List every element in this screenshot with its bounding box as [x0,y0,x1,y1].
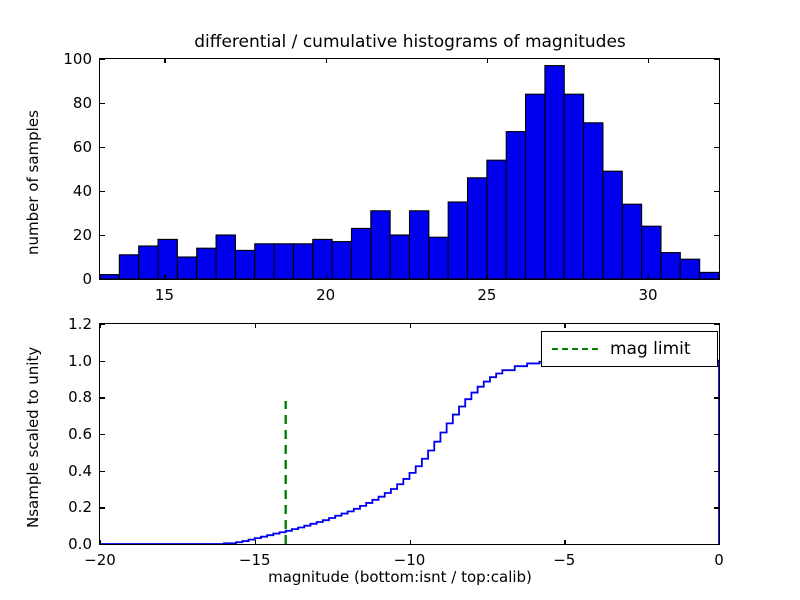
y-tick-mark [100,147,105,148]
x-tick-label: 25 [477,286,496,304]
y-tick-label: 60 [37,138,92,156]
cumulative-step-line [100,361,719,544]
x-tick-mark [487,275,488,280]
y-tick-mark [714,471,719,472]
differential-histogram-axes [99,58,720,280]
histogram-bar [274,244,293,279]
histogram-bar [506,132,525,279]
histogram-bar [235,250,254,279]
y-tick-label: 80 [37,94,92,112]
x-tick-mark [564,323,565,328]
y-tick-label: 40 [37,182,92,200]
bottom-axes-ylabel: Nsample scaled to unity [24,347,42,528]
x-tick-label: −20 [84,551,116,569]
histogram-bars [100,59,719,279]
histogram-bar [487,160,506,279]
top-axes-ylabel: number of samples [24,110,42,255]
histogram-bar [564,94,583,279]
histogram-bar [545,66,564,279]
histogram-bar [119,255,138,279]
x-tick-mark [719,540,720,545]
x-tick-mark [255,323,256,328]
histogram-bar [680,259,699,279]
histogram-bar [216,235,235,279]
histogram-bar [177,257,196,279]
x-tick-mark [487,58,488,63]
y-tick-mark [714,59,719,60]
y-tick-mark [714,544,719,545]
histogram-bar [390,235,409,279]
x-tick-mark [564,540,565,545]
legend[interactable]: mag limit [541,331,718,367]
y-tick-mark [100,324,105,325]
figure-title: differential / cumulative histograms of … [100,32,720,52]
histogram-bar [468,178,487,279]
y-tick-mark [100,191,105,192]
histogram-bar [371,211,390,279]
y-tick-mark [714,279,719,280]
y-tick-label: 0.4 [37,462,92,480]
histogram-bar [642,226,661,279]
x-tick-mark [164,275,165,280]
y-tick-mark [714,324,719,325]
x-tick-label: −5 [553,551,575,569]
y-tick-label: 0.8 [37,388,92,406]
histogram-bar [584,123,603,279]
histogram-bar [622,204,641,279]
y-tick-mark [100,507,105,508]
x-tick-mark [410,540,411,545]
x-tick-mark [410,323,411,328]
x-tick-label: 20 [316,286,335,304]
x-tick-mark [255,540,256,545]
histogram-bar [158,239,177,279]
x-tick-label: 15 [155,286,174,304]
x-tick-label: 0 [714,551,724,569]
y-tick-mark [100,235,105,236]
y-tick-mark [714,397,719,398]
y-tick-mark [100,434,105,435]
y-tick-mark [100,103,105,104]
y-tick-label: 20 [37,226,92,244]
histogram-bar [139,246,158,279]
histogram-bar [332,242,351,279]
y-tick-mark [714,235,719,236]
y-tick-mark [714,191,719,192]
y-tick-mark [714,434,719,435]
histogram-bar [313,239,332,279]
histogram-bar [603,171,622,279]
y-tick-mark [100,279,105,280]
y-tick-label: 0.6 [37,425,92,443]
x-tick-mark [164,58,165,63]
legend-label-mag-limit: mag limit [610,339,691,359]
histogram-bar [661,253,680,279]
histogram-bar [429,237,448,279]
y-tick-mark [714,103,719,104]
y-tick-mark [714,147,719,148]
y-tick-label: 0 [37,270,92,288]
y-tick-label: 1.2 [37,315,92,333]
histogram-bar [351,228,370,279]
y-tick-mark [100,361,105,362]
x-tick-mark [648,275,649,280]
histogram-bar [700,272,719,279]
figure-xlabel: magnitude (bottom:isnt / top:calib) [0,568,800,586]
y-tick-label: 100 [37,50,92,68]
y-tick-label: 0.0 [37,535,92,553]
x-tick-label: −15 [239,551,271,569]
y-tick-mark [100,59,105,60]
y-tick-label: 0.2 [37,498,92,516]
figure: differential / cumulative histograms of … [0,0,800,600]
histogram-bar [526,94,545,279]
histogram-bar [255,244,274,279]
x-tick-mark [648,58,649,63]
y-tick-mark [100,397,105,398]
y-tick-mark [714,507,719,508]
y-tick-mark [100,471,105,472]
histogram-bar [410,211,429,279]
y-tick-label: 1.0 [37,352,92,370]
mag-limit-line-swatch [552,348,598,350]
histogram-bar [293,244,312,279]
x-tick-label: 30 [639,286,658,304]
x-tick-mark [326,58,327,63]
x-tick-label: −10 [394,551,426,569]
histogram-bar [197,248,216,279]
y-tick-mark [100,544,105,545]
histogram-bar [448,202,467,279]
x-tick-mark [719,323,720,328]
x-tick-mark [326,275,327,280]
